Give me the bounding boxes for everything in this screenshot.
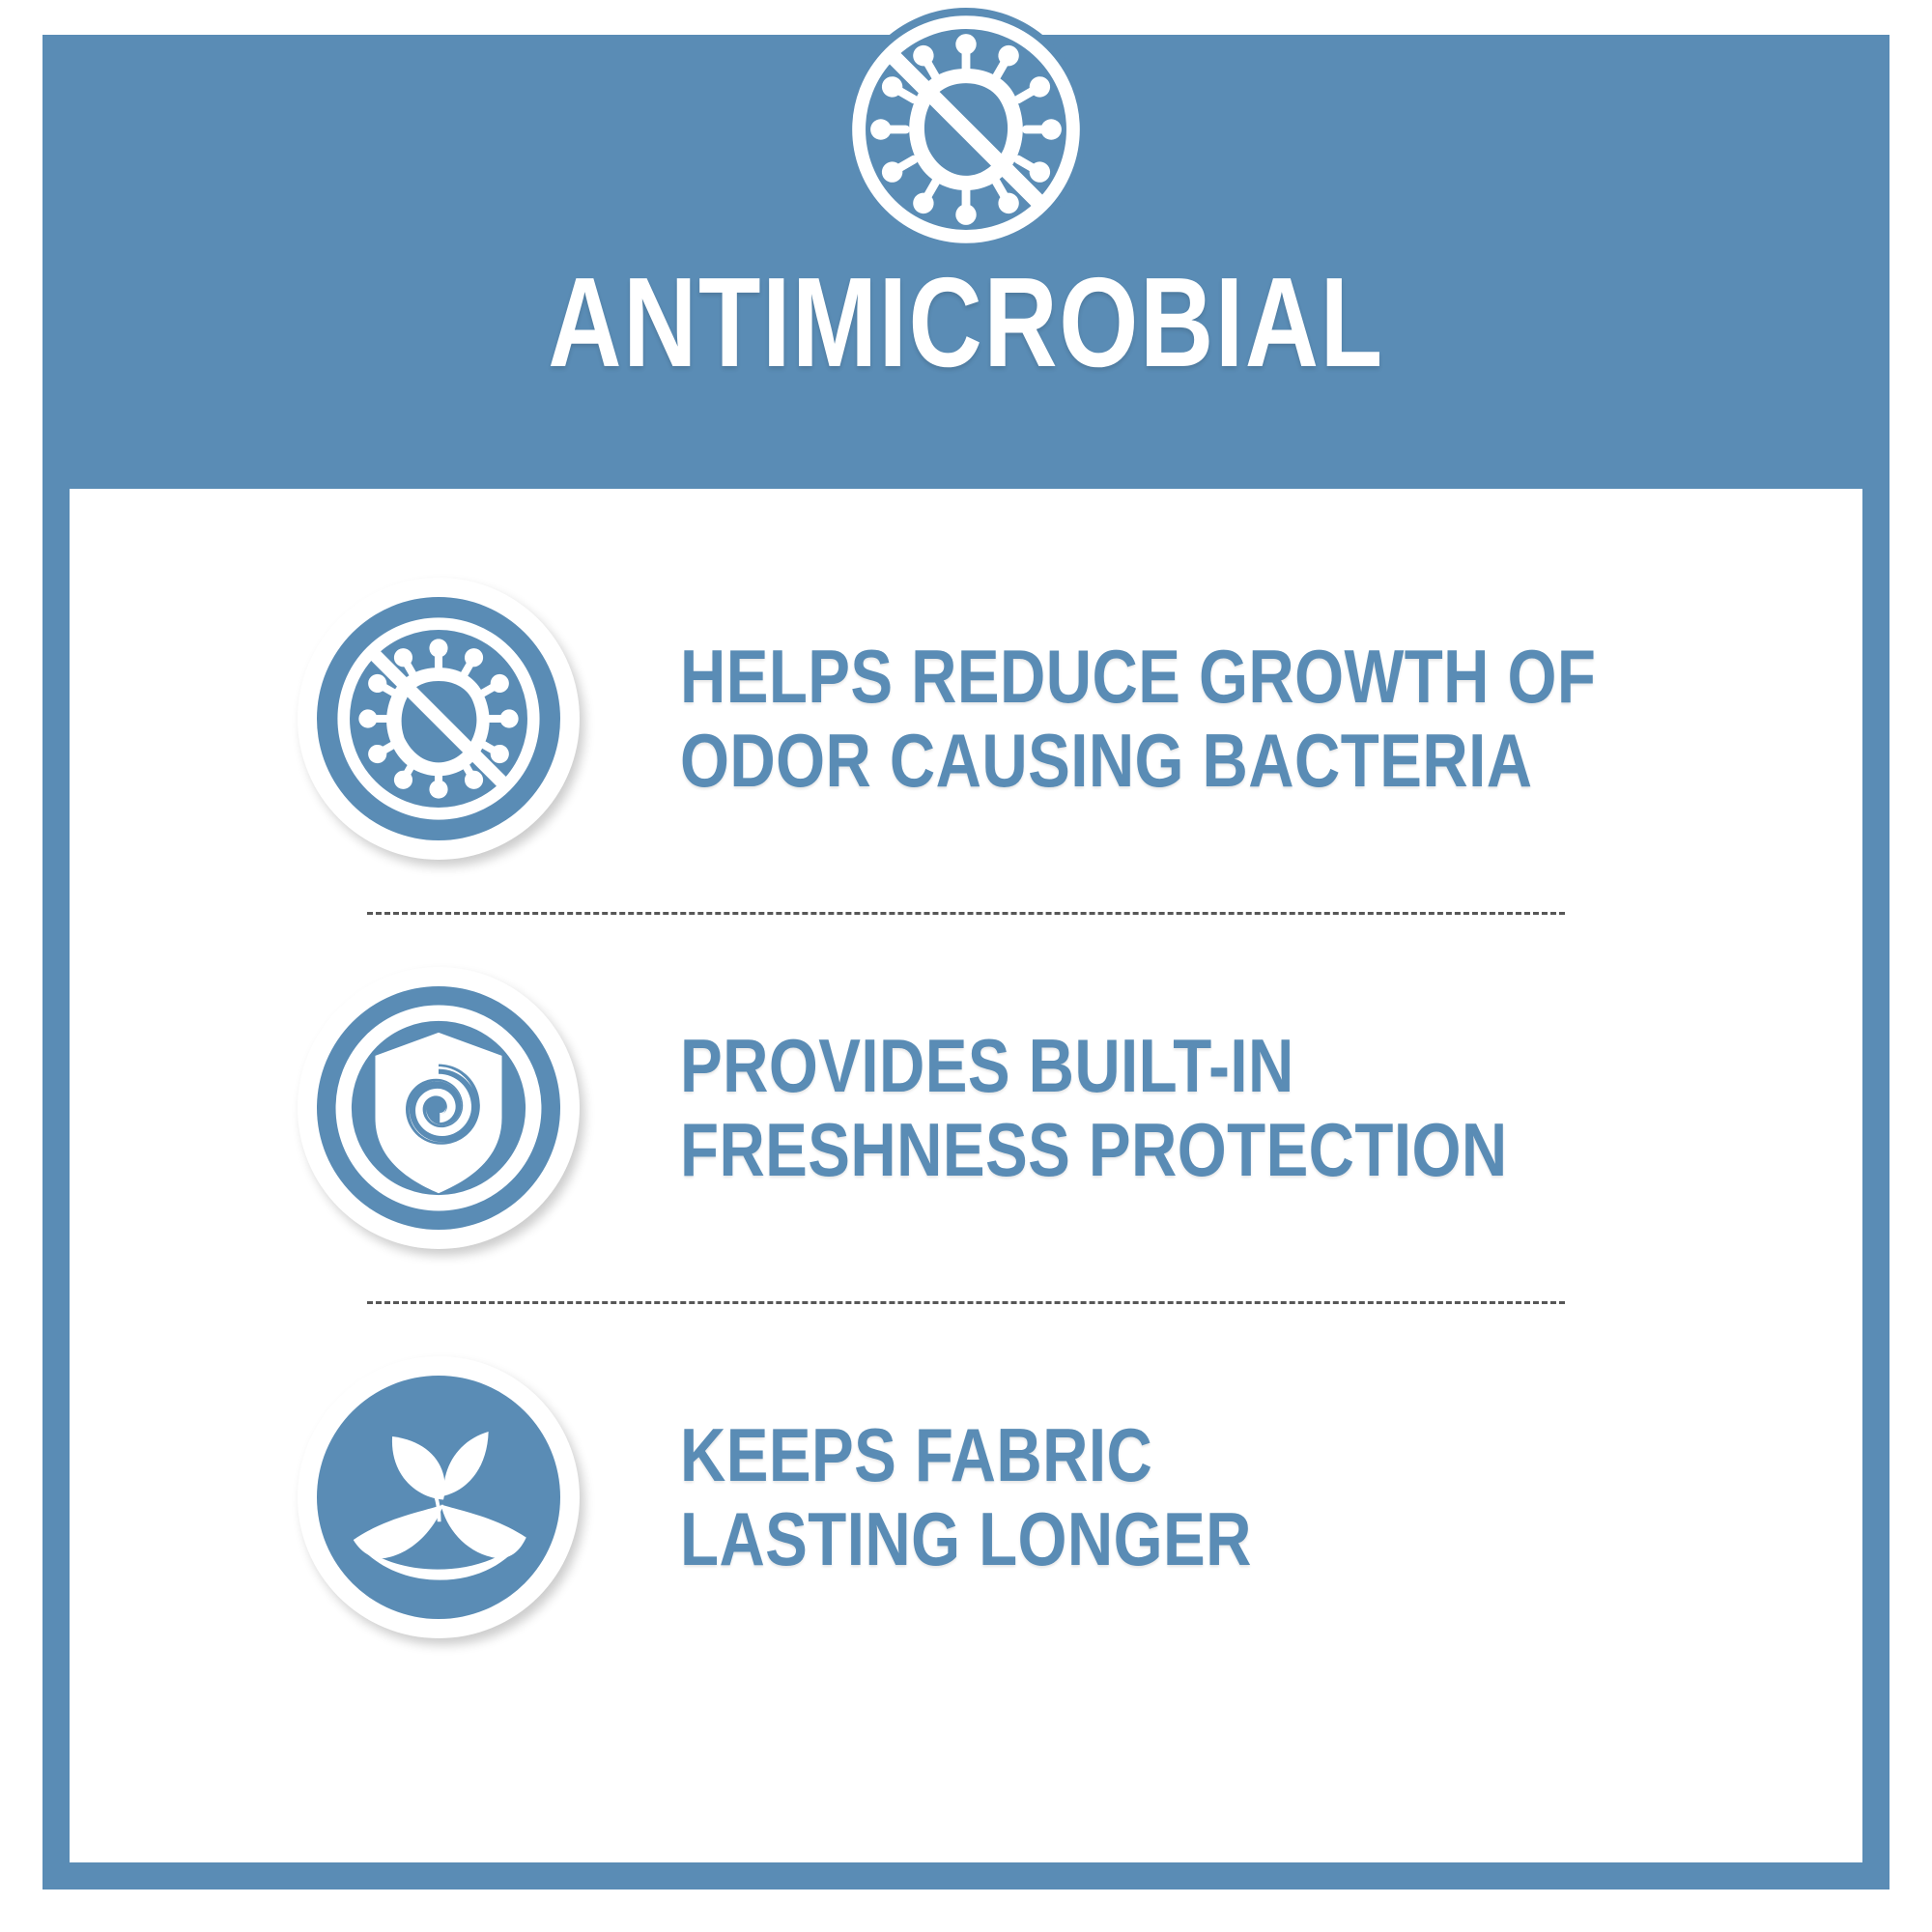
feature-line-3a: KEEPS FABRIC xyxy=(680,1413,1252,1497)
row-divider-1 xyxy=(367,912,1565,915)
no-germ-circle-icon xyxy=(298,578,580,860)
features-panel: HELPS REDUCE GROWTH OF ODOR CAUSING BACT… xyxy=(70,489,1862,1862)
no-germ-icon xyxy=(844,8,1088,251)
feature-line-1a: HELPS REDUCE GROWTH OF xyxy=(680,635,1596,719)
feature-line-3b: LASTING LONGER xyxy=(680,1497,1252,1581)
page-title: ANTIMICROBIAL xyxy=(227,259,1705,386)
feature-line-2a: PROVIDES BUILT-IN xyxy=(680,1024,1508,1108)
feature-text-1: HELPS REDUCE GROWTH OF ODOR CAUSING BACT… xyxy=(680,635,1596,804)
feature-line-1b: ODOR CAUSING BACTERIA xyxy=(680,719,1596,803)
frame-bottom-bar xyxy=(43,1862,1889,1889)
feature-text-3: KEEPS FABRIC LASTING LONGER xyxy=(680,1413,1252,1582)
leaf-sprout-icon xyxy=(298,1356,580,1638)
icon-disc xyxy=(317,986,560,1230)
antimicrobial-infographic: ANTIMICROBIAL xyxy=(0,0,1932,1932)
feature-row-2: PROVIDES BUILT-IN FRESHNESS PROTECTION xyxy=(70,915,1862,1301)
feature-row-1: HELPS REDUCE GROWTH OF ODOR CAUSING BACT… xyxy=(70,526,1862,912)
row-divider-2 xyxy=(367,1301,1565,1304)
shield-swirl-icon xyxy=(298,967,580,1249)
feature-line-2b: FRESHNESS PROTECTION xyxy=(680,1108,1508,1192)
icon-disc xyxy=(317,1376,560,1619)
header-band: ANTIMICROBIAL xyxy=(43,35,1889,489)
feature-text-2: PROVIDES BUILT-IN FRESHNESS PROTECTION xyxy=(680,1024,1508,1193)
feature-row-3: KEEPS FABRIC LASTING LONGER xyxy=(70,1304,1862,1690)
icon-disc xyxy=(317,597,560,840)
